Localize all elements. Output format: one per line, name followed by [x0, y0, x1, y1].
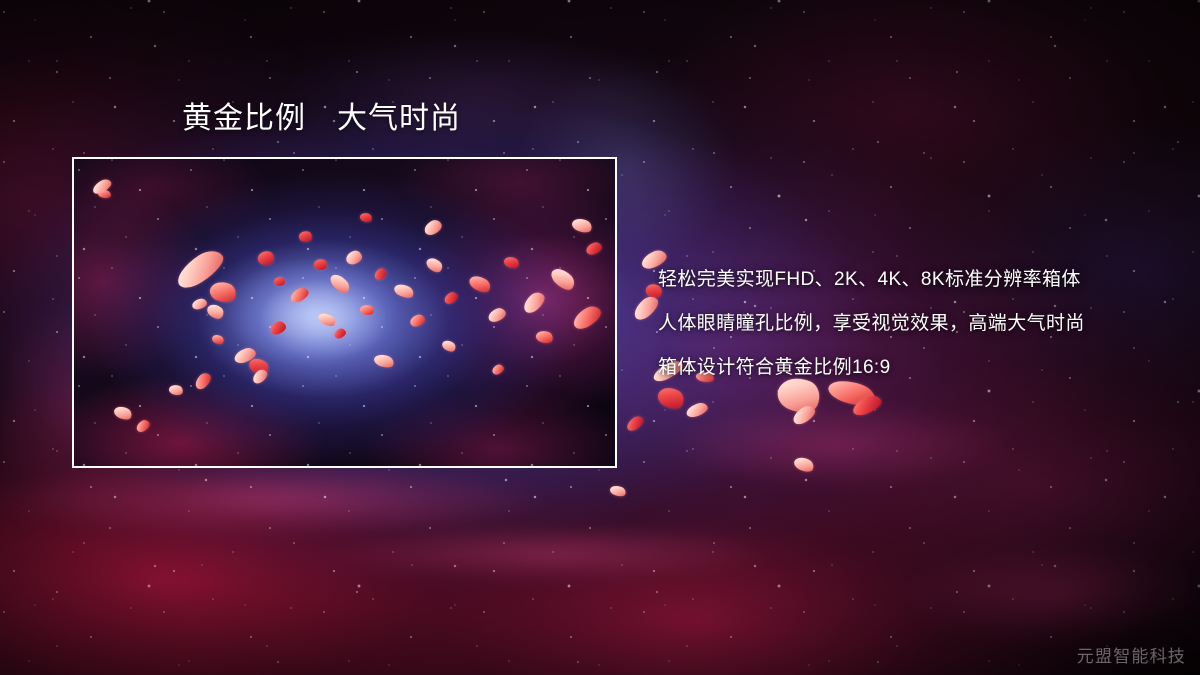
- watermark-text: 元盟智能科技: [1077, 642, 1186, 667]
- body-line-1: 轻松完美实现FHD、2K、4K、8K标准分辨率箱体: [658, 258, 1178, 302]
- body-line-3: 箱体设计符合黄金比例16:9: [658, 346, 1178, 390]
- slide-title: 黄金比例 大气时尚: [182, 101, 461, 138]
- framed-starfield: [74, 159, 615, 466]
- petal: [792, 454, 816, 474]
- petal: [850, 393, 883, 418]
- body-text-block: 轻松完美实现FHD、2K、4K、8K标准分辨率箱体 人体眼睛瞳孔比例，享受视觉效…: [658, 258, 1178, 390]
- framed-image-content: [74, 159, 615, 466]
- framed-image: [72, 157, 617, 468]
- petal: [624, 414, 645, 433]
- petal: [685, 401, 710, 419]
- body-line-2: 人体眼睛瞳孔比例，享受视觉效果，高端大气时尚: [658, 302, 1178, 346]
- petal: [790, 403, 818, 427]
- petal: [609, 484, 627, 499]
- presentation-slide: 黄金比例 大气时尚 轻松完美实现FHD、2K、4K、8K标准分辨率箱体 人体眼睛…: [0, 0, 1200, 675]
